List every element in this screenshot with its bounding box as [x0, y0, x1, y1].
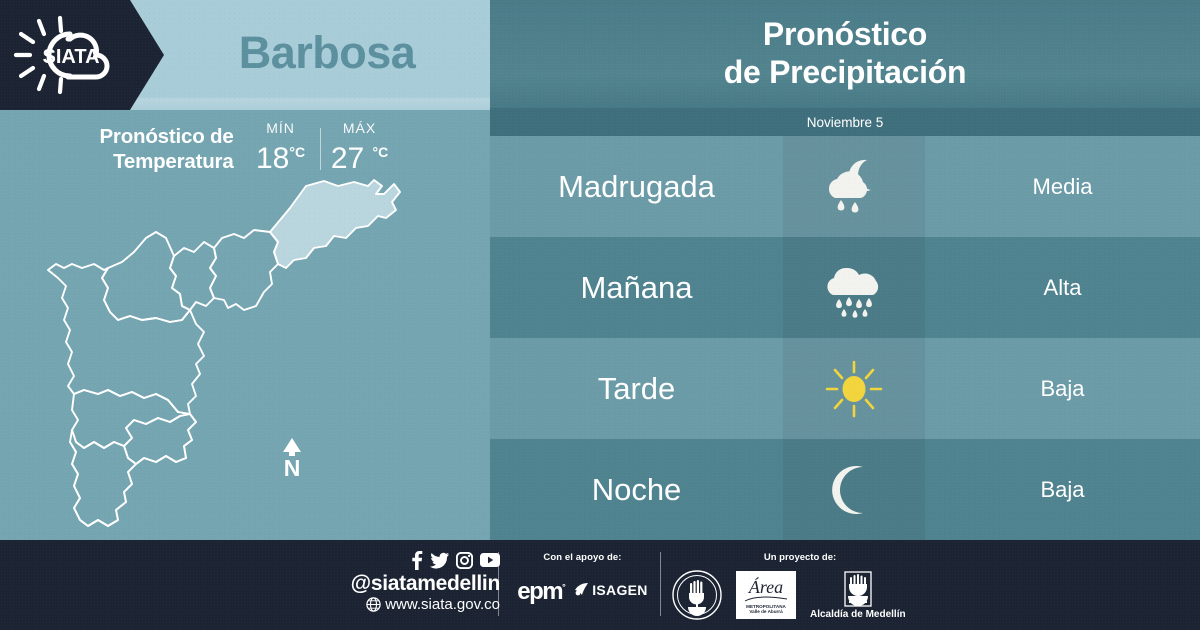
table-row[interactable]: Noche Baja: [490, 439, 1200, 540]
row-period-label: Mañana: [490, 237, 783, 338]
row-icon-cell: [783, 439, 925, 540]
map-region-caldas: [70, 414, 196, 526]
temperature-max-label: MÁX: [343, 120, 376, 136]
support-title: Con el apoyo de:: [510, 552, 655, 563]
footer-support-block: Con el apoyo de: epm° ISAGEN: [510, 552, 655, 604]
forecast-header: Pronóstico de Precipitación: [490, 0, 1200, 108]
project-title: Un proyecto de:: [700, 552, 900, 563]
row-level-label: Baja: [925, 338, 1200, 439]
row-icon-cell: [783, 136, 925, 237]
row-level-label: Media: [925, 136, 1200, 237]
map-panel: Pronóstico de Temperatura MÍN 18°C MÁX 2…: [0, 110, 490, 540]
alcaldia-medellin-logo[interactable]: Alcaldía de Medellín: [810, 571, 906, 620]
temperature-min-unit: °C: [289, 144, 305, 160]
forecast-rows: Madrugada Media Mañana: [490, 136, 1200, 540]
footer-website-label: www.siata.gov.co: [385, 595, 500, 614]
project-logos-row: Área METROPOLITANA Valle de Aburrá: [672, 570, 962, 620]
temperature-max: MÁX 27 °C: [329, 120, 391, 175]
north-arrow: N: [272, 438, 312, 490]
moon-icon: [815, 457, 893, 523]
temperature-title-line1: Pronóstico de: [99, 125, 233, 148]
forecast-title: Pronóstico de Precipitación: [724, 15, 966, 93]
footer-project-block: Un proyecto de: Área: [672, 552, 962, 620]
left-panel: SIATA Barbosa Pronóstico de Temperatura …: [0, 0, 490, 540]
valle-de-aburra-map[interactable]: [38, 172, 458, 538]
north-arrow-triangle-icon: [283, 438, 301, 452]
row-icon-cell: [783, 237, 925, 338]
weather-forecast-infographic: SIATA Barbosa Pronóstico de Temperatura …: [0, 0, 1200, 630]
footer: @siatamedellin www.siata.gov.co Con el a…: [0, 540, 1200, 630]
map-region-girardota: [210, 230, 278, 310]
instagram-icon[interactable]: [456, 552, 473, 569]
table-row[interactable]: Madrugada Media: [490, 136, 1200, 237]
temperature-title: Pronóstico de Temperatura: [99, 118, 233, 174]
row-icon-cell: [783, 338, 925, 439]
row-level-label: Alta: [925, 237, 1200, 338]
row-period-label: Noche: [490, 439, 783, 540]
temperature-max-value: 27 °C: [331, 136, 388, 175]
map-region-bello: [102, 232, 190, 322]
temperature-title-line2: Temperatura: [113, 150, 233, 173]
udea-seal-icon[interactable]: [672, 570, 722, 620]
forecast-title-line2: de Precipitación: [724, 54, 966, 90]
temperature-divider: [320, 128, 321, 170]
map-region-medellin: [48, 264, 204, 414]
moon-cloud-rain-icon: [815, 154, 893, 220]
map-region-itagui: [72, 390, 190, 448]
temperature-min-label: MÍN: [266, 120, 295, 136]
temperature-values: MÍN 18°C MÁX 27 °C: [250, 118, 391, 175]
youtube-icon[interactable]: [480, 553, 500, 567]
area-logo-sub2: Valle de Aburrá: [749, 609, 782, 614]
footer-divider-1: [498, 552, 499, 616]
temperature-max-unit: °C: [373, 144, 389, 160]
area-logo-sub1: METROPOLITANA: [746, 604, 786, 609]
epm-logo-mark: °: [562, 582, 564, 592]
forecast-date: Noviembre 5: [490, 108, 1200, 136]
area-metropolitana-logo[interactable]: Área METROPOLITANA Valle de Aburrá: [736, 571, 796, 619]
social-handle[interactable]: @siatamedellin: [255, 572, 500, 595]
epm-logo[interactable]: epm°: [517, 575, 564, 604]
epm-logo-text: epm: [517, 578, 562, 605]
area-logo-flourish-icon: [744, 595, 788, 603]
row-period-label: Madrugada: [490, 136, 783, 237]
alcaldia-crest-icon: [843, 571, 873, 607]
isagen-logo[interactable]: ISAGEN: [574, 582, 647, 598]
forecast-title-line1: Pronóstico: [763, 16, 927, 52]
isagen-logo-text: ISAGEN: [592, 582, 647, 598]
table-row[interactable]: Mañana A: [490, 237, 1200, 338]
globe-icon: [366, 597, 381, 612]
footer-social-block: @siatamedellin www.siata.gov.co: [255, 550, 500, 614]
support-logos-row: epm° ISAGEN: [510, 575, 655, 604]
twitter-icon[interactable]: [430, 552, 449, 569]
table-row[interactable]: Tarde: [490, 338, 1200, 439]
footer-divider-2: [660, 552, 661, 616]
siata-logo-text: SIATA: [42, 46, 99, 68]
siata-logo[interactable]: SIATA: [8, 14, 132, 96]
temperature-min: MÍN 18°C: [250, 120, 312, 175]
north-arrow-label: N: [272, 456, 312, 480]
facebook-icon[interactable]: [411, 551, 423, 570]
page-title: Barbosa: [164, 0, 490, 110]
social-icons-row: [255, 550, 500, 570]
row-period-label: Tarde: [490, 338, 783, 439]
logo-chevron-block: SIATA: [0, 0, 164, 110]
forecast-panel: Pronóstico de Precipitación Noviembre 5 …: [490, 0, 1200, 540]
temperature-min-value: 18°C: [256, 136, 305, 175]
cloud-heavy-rain-icon: [815, 255, 893, 321]
alcaldia-logo-text: Alcaldía de Medellín: [810, 609, 906, 620]
sun-icon: [815, 356, 893, 422]
footer-website[interactable]: www.siata.gov.co: [255, 595, 500, 614]
area-logo-subtitle: METROPOLITANA Valle de Aburrá: [736, 604, 796, 615]
isagen-mark-icon: [574, 582, 590, 597]
row-level-label: Baja: [925, 439, 1200, 540]
map-region-barbosa: [270, 180, 400, 268]
